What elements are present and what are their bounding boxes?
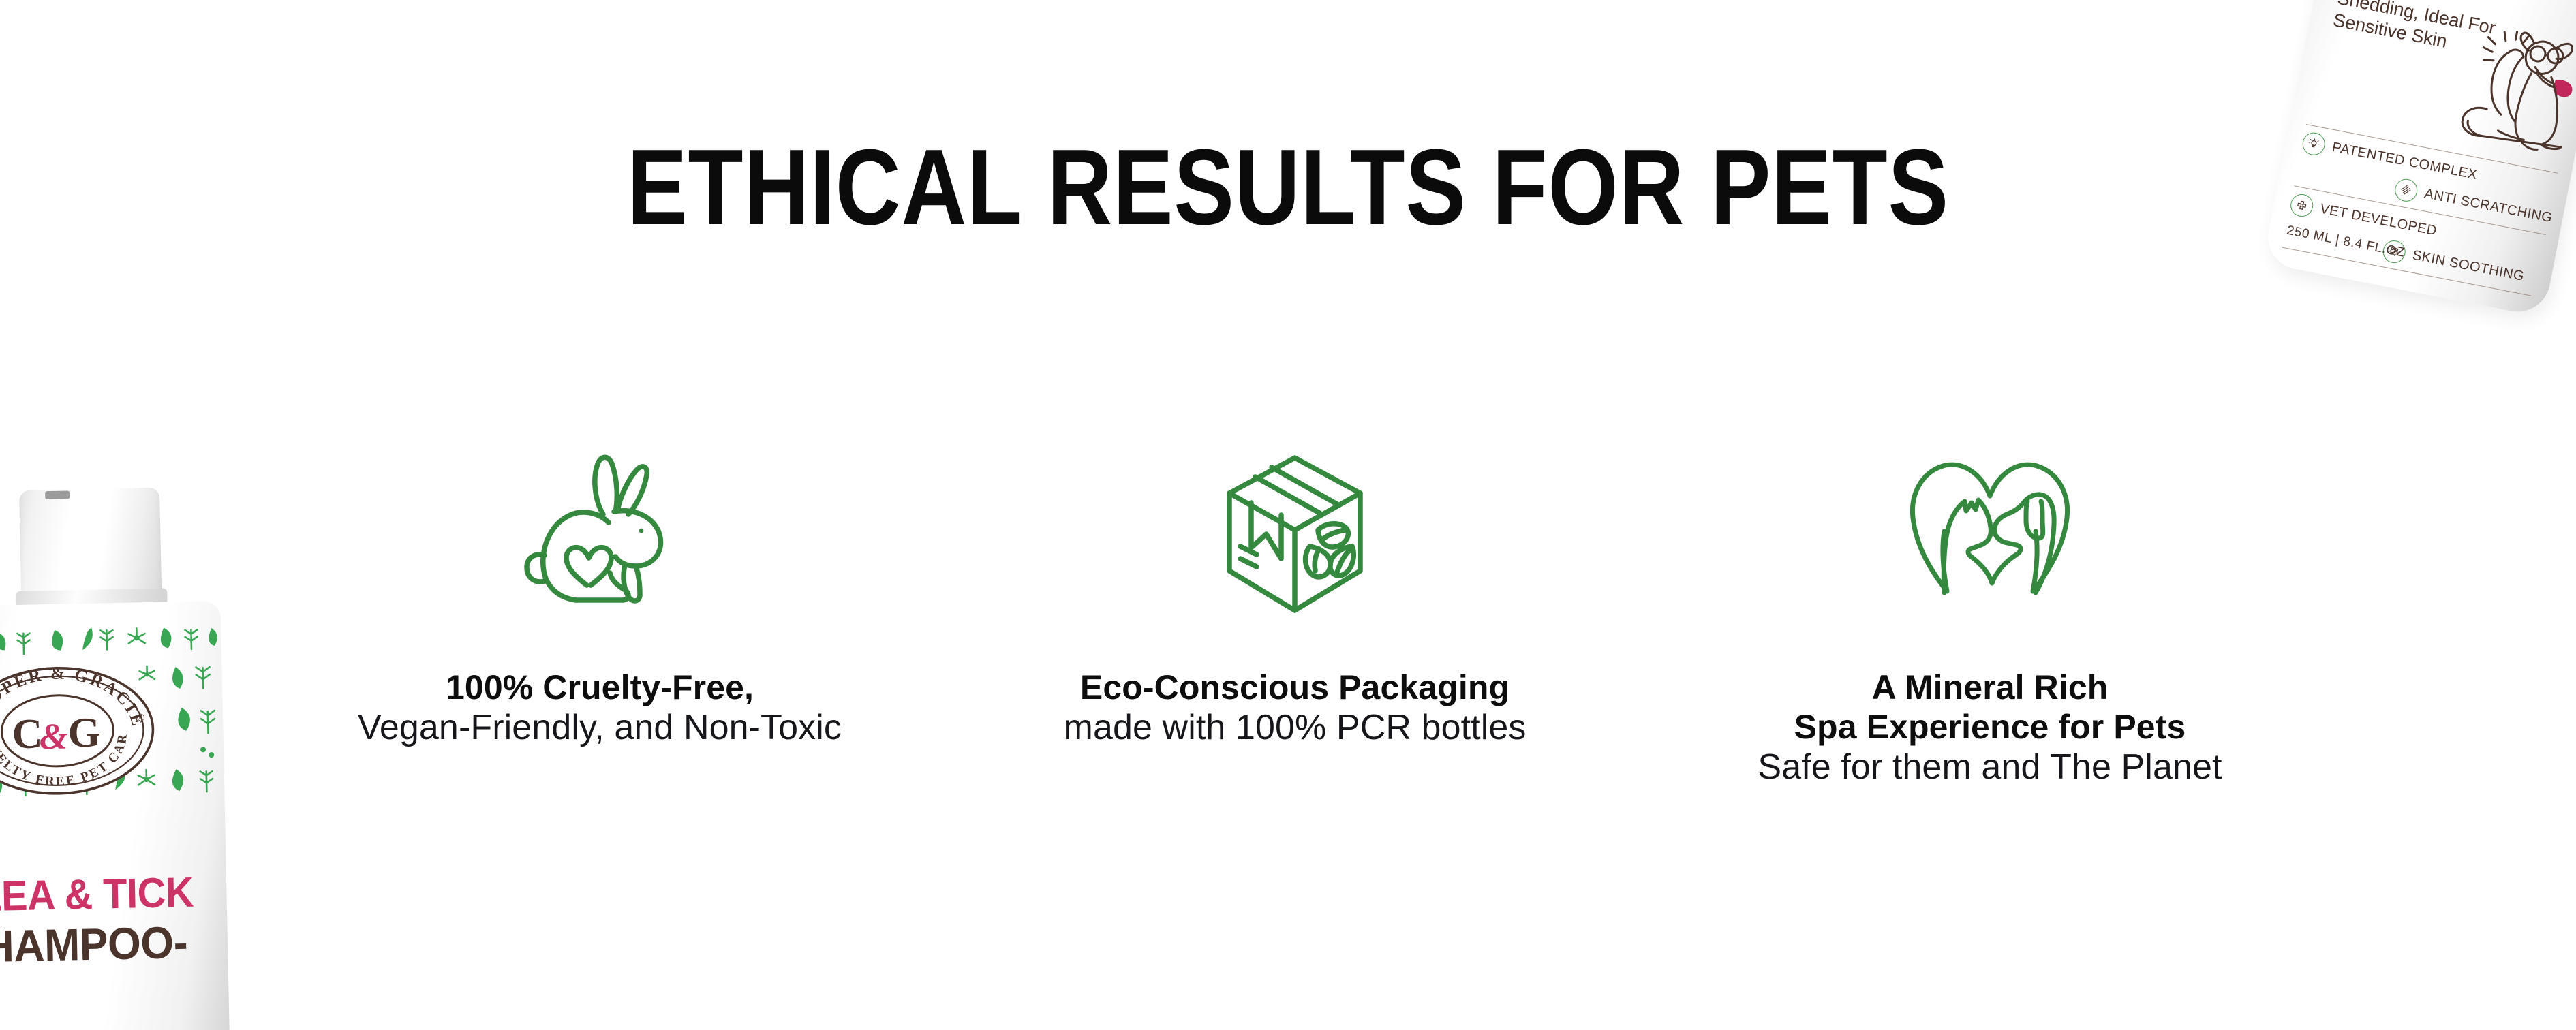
vet-cross-badge-icon: [2288, 192, 2315, 219]
feature-item-cruelty-free: 100% Cruelty-Free, Vegan-Friendly, and N…: [293, 441, 906, 748]
product-bottle-secondary: Itching And Shedding, Ideal For Sensitiv…: [2257, 0, 2576, 345]
feature-caption: 100% Cruelty-Free, Vegan-Friendly, and N…: [358, 668, 842, 748]
feature-item-eco-packaging: Eco-Conscious Packaging made with 100% P…: [988, 441, 1601, 748]
svg-text:G: G: [67, 710, 102, 757]
feature-subtitle: Vegan-Friendly, and Non-Toxic: [358, 707, 842, 748]
product-name-line-1: FLEA & TICK: [0, 869, 164, 922]
scratching-dog-illustration-icon: [2440, 17, 2576, 166]
svg-text:&: &: [39, 716, 68, 758]
cat-dog-heart-icon: [1905, 441, 2075, 632]
hatch-lines-badge-icon: [2393, 177, 2419, 204]
ethical-results-section: ETHICAL RESULTS FOR PETS: [0, 0, 2576, 1030]
bottle-cap-notch: [45, 490, 70, 499]
feature-caption: A Mineral Rich Spa Experience for Pets S…: [1758, 668, 2222, 787]
rabbit-heart-icon: [521, 441, 678, 632]
product-name-line-2: SHAMPOO-: [0, 916, 189, 973]
brand-logo: COOPER & GRACIE CRUELTY FREE PET CARE ® …: [0, 662, 157, 800]
feature-title: A Mineral Rich: [1758, 668, 2222, 707]
page-title: ETHICAL RESULTS FOR PETS: [206, 134, 2370, 241]
bottle-body: Itching And Shedding, Ideal For Sensitiv…: [2263, 0, 2576, 317]
svg-text:®: ®: [137, 712, 144, 723]
feature-item-spa-experience: A Mineral Rich Spa Experience for Pets S…: [1683, 441, 2297, 787]
feature-title-line2: Spa Experience for Pets: [1758, 707, 2222, 747]
lightbulb-badge-icon: [2301, 131, 2327, 157]
product-bottle-flea-tick-shampoo: COOPER & GRACIE CRUELTY FREE PET CARE ® …: [0, 486, 258, 1030]
bottle-body: COOPER & GRACIE CRUELTY FREE PET CARE ® …: [0, 601, 231, 1030]
bottle-cap: [19, 488, 162, 605]
feature-subtitle: made with 100% PCR bottles: [1064, 707, 1527, 748]
feature-subtitle: Safe for them and The Planet: [1758, 747, 2222, 787]
feature-title: Eco-Conscious Packaging: [1064, 668, 1527, 707]
feature-caption: Eco-Conscious Packaging made with 100% P…: [1064, 668, 1527, 748]
feature-row: 100% Cruelty-Free, Vegan-Friendly, and N…: [293, 441, 2297, 787]
feature-title: 100% Cruelty-Free,: [358, 668, 842, 707]
eco-box-icon: [1220, 441, 1370, 632]
